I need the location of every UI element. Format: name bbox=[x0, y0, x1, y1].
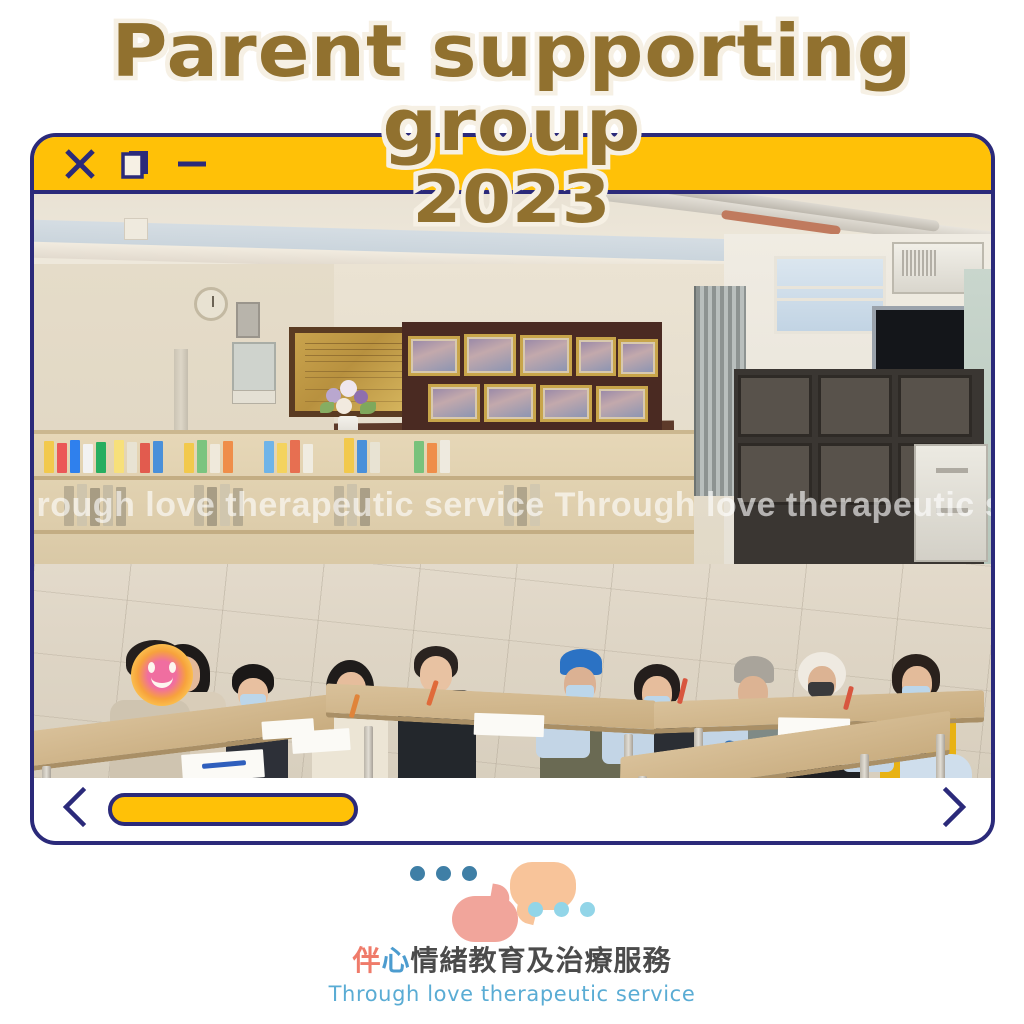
logo-chinese-name: 伴心情緒教育及治療服務 bbox=[0, 944, 1024, 978]
table-leg bbox=[860, 754, 869, 778]
logo-cn-char-2: 心 bbox=[381, 944, 410, 977]
logo-dot-light bbox=[580, 902, 595, 917]
speech-bubble-pink bbox=[452, 896, 518, 942]
table-leg bbox=[364, 726, 373, 778]
logo-english-name: Through love therapeutic service bbox=[0, 982, 1024, 1006]
prev-button[interactable] bbox=[60, 786, 90, 833]
progress-scrollbar[interactable] bbox=[108, 793, 358, 826]
smiley-face-sticker bbox=[131, 644, 193, 706]
logo-dot-dark bbox=[410, 866, 425, 881]
worksheet bbox=[261, 718, 314, 740]
wall-clock bbox=[194, 287, 228, 321]
next-button[interactable] bbox=[939, 786, 969, 833]
electrical-panel-base bbox=[232, 390, 276, 404]
bookshelf-light bbox=[34, 430, 694, 580]
logo-cn-rest: 情緒教育及治療服務 bbox=[411, 944, 672, 977]
filing-cabinet bbox=[914, 444, 988, 562]
electrical-panel bbox=[232, 342, 276, 394]
window-titlebar bbox=[34, 137, 991, 194]
logo-dot-light bbox=[528, 902, 543, 917]
event-photo: Through love therapeutic service Through… bbox=[34, 194, 991, 778]
logo-dot-dark bbox=[462, 866, 477, 881]
logo-dot-light bbox=[554, 902, 569, 917]
close-icon[interactable] bbox=[63, 147, 97, 181]
door-frame-slot bbox=[174, 349, 188, 434]
logo-bubbles bbox=[392, 858, 632, 940]
poster-root: Parent supporting group 2023 bbox=[0, 0, 1024, 1024]
flower-arrangement bbox=[316, 372, 380, 432]
browser-window: Through love therapeutic service Through… bbox=[30, 133, 995, 845]
photo-viewport: Through love therapeutic service Through… bbox=[34, 194, 991, 778]
window-bottombar bbox=[34, 778, 991, 841]
wall-switch-panel bbox=[236, 302, 260, 338]
organisation-logo: 伴心情緒教育及治療服務 Through love therapeutic ser… bbox=[0, 858, 1024, 1006]
minimize-icon[interactable] bbox=[175, 156, 209, 172]
table-leg bbox=[42, 766, 51, 778]
room-window bbox=[774, 256, 886, 334]
maximize-icon[interactable] bbox=[119, 147, 153, 181]
table-leg bbox=[936, 734, 945, 778]
worksheet bbox=[474, 713, 545, 737]
logo-dot-dark bbox=[436, 866, 451, 881]
table-leg bbox=[638, 776, 647, 778]
logo-cn-char-1: 伴 bbox=[352, 944, 381, 977]
ceiling-sensor-box bbox=[124, 218, 148, 240]
